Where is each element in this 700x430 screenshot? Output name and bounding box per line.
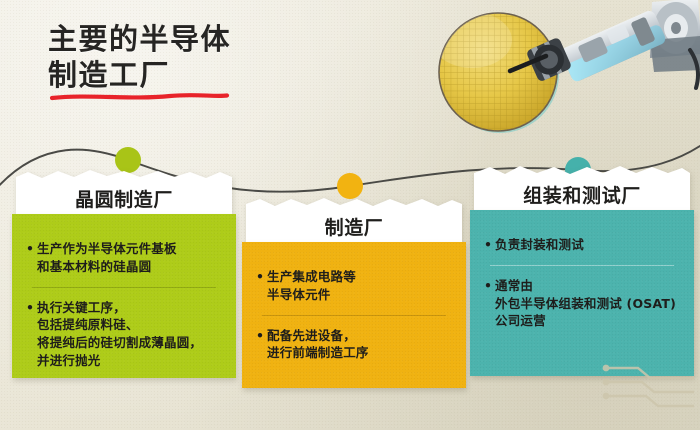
circuit-trace-decoration xyxy=(598,358,694,416)
bullet-item: 生产作为半导体元件基板 和基本材料的硅晶圆 xyxy=(26,240,222,276)
infographic-canvas: 主要的半导体 制造工厂 晶圆制造厂 生产作为半导体元件基板 和基本材料的硅晶圆 … xyxy=(0,0,700,430)
card-wafer-fab[interactable]: 晶圆制造厂 生产作为半导体元件基板 和基本材料的硅晶圆 执行关键工序， 包括提纯… xyxy=(12,168,236,378)
title-line-1: 主要的半导体 xyxy=(48,22,378,58)
card-body-assembly-test: 负责封装和测试 通常由 外包半导体组装和测试 (OSAT) 公司运营 xyxy=(470,210,694,376)
card-title-wafer-fab: 晶圆制造厂 xyxy=(12,185,236,212)
card-fab[interactable]: 制造厂 生产集成电路等 半导体元件 配备先进设备， 进行前端制造工序 xyxy=(242,196,466,388)
bullet-divider xyxy=(490,265,674,266)
page-title: 主要的半导体 制造工厂 xyxy=(48,22,378,101)
bullet-item: 执行关键工序， 包括提纯原料硅、 将提纯后的硅切割成薄晶圆， 并进行抛光 xyxy=(26,299,222,370)
bullet-divider xyxy=(262,315,446,316)
card-assembly-test[interactable]: 组装和测试厂 负责封装和测试 通常由 外包半导体组装和测试 (OSAT) 公司运… xyxy=(470,164,694,376)
bullet-item: 生产集成电路等 半导体元件 xyxy=(256,268,452,304)
title-line-2: 制造工厂 xyxy=(48,58,378,94)
card-title-assembly-test: 组装和测试厂 xyxy=(470,181,694,208)
title-underline xyxy=(50,92,230,101)
card-body-fab: 生产集成电路等 半导体元件 配备先进设备， 进行前端制造工序 xyxy=(242,242,466,388)
bullet-item: 通常由 外包半导体组装和测试 (OSAT) 公司运营 xyxy=(484,277,680,330)
bullet-item: 负责封装和测试 xyxy=(484,236,680,254)
card-title-fab: 制造厂 xyxy=(242,213,466,240)
card-body-wafer-fab: 生产作为半导体元件基板 和基本材料的硅晶圆 执行关键工序， 包括提纯原料硅、 将… xyxy=(12,214,236,378)
bullet-divider xyxy=(32,287,216,288)
bullet-item: 配备先进设备， 进行前端制造工序 xyxy=(256,327,452,363)
